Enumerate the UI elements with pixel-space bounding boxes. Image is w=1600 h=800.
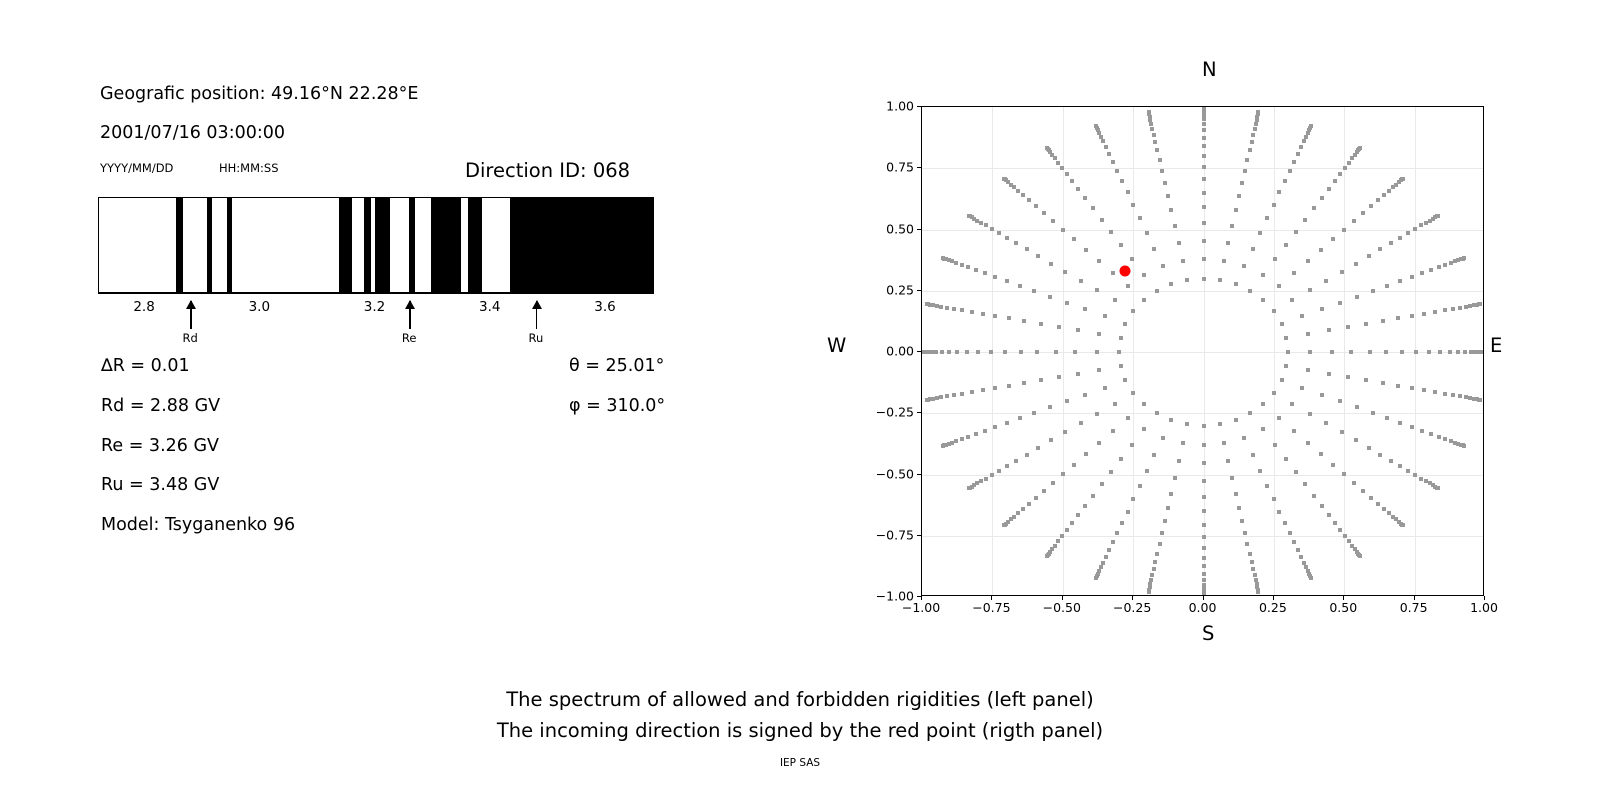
direction-grid-point [1243, 531, 1247, 535]
direction-grid-point [1302, 561, 1306, 565]
direction-grid-point [1014, 241, 1018, 245]
direction-grid-point [1265, 484, 1269, 488]
direction-grid-point [1401, 523, 1405, 527]
direction-grid-point [1065, 172, 1069, 176]
direction-grid-point [1084, 452, 1088, 456]
direction-grid-point [1158, 542, 1162, 546]
time-format-hint: HH:MM:SS [219, 161, 279, 175]
direction-grid-point [1306, 441, 1310, 445]
direction-grid-point [1181, 441, 1185, 445]
direction-grid-point [1100, 482, 1104, 486]
forbidden-band [207, 198, 212, 292]
direction-grid-point [1245, 542, 1249, 546]
direction-grid-point [1251, 453, 1255, 457]
direction-grid-point [1065, 301, 1069, 305]
direction-grid-point [1385, 416, 1389, 420]
direction-grid-point [1331, 463, 1335, 467]
direction-grid-point [1413, 473, 1417, 477]
direction-grid-point [976, 350, 980, 354]
direction-grid-point [1039, 322, 1043, 326]
grid-line-horizontal [922, 413, 1483, 414]
direction-grid-point [1242, 264, 1246, 268]
direction-grid-point [1343, 534, 1347, 538]
direction-grid-point [1202, 277, 1206, 281]
direction-grid-point [960, 437, 964, 441]
direction-grid-point [1109, 470, 1113, 474]
direction-grid-point [1101, 139, 1105, 143]
direction-grid-point [1389, 459, 1393, 463]
direction-grid-point [1401, 177, 1405, 181]
direction-grid-point [1369, 496, 1373, 500]
direction-grid-point [1131, 391, 1135, 395]
marker-label: Ru [528, 331, 543, 345]
direction-grid-point [1364, 378, 1368, 382]
direction-grid-point [1130, 443, 1134, 447]
direction-grid-point [940, 350, 944, 354]
direction-grid-point [1303, 218, 1307, 222]
direction-grid-point [1115, 531, 1119, 535]
direction-grid-point [1343, 166, 1347, 170]
direction-grid-point [1051, 219, 1055, 223]
spectrum-tick-label: 3.0 [249, 299, 270, 315]
grid-line-horizontal [922, 475, 1483, 476]
direction-grid-point [1352, 481, 1356, 485]
direction-grid-point [1302, 139, 1306, 143]
direction-grid-point [1384, 350, 1388, 354]
direction-grid-point [1438, 350, 1442, 354]
direction-grid-point [1312, 494, 1316, 498]
direction-grid-point [1202, 122, 1206, 126]
direction-grid-point [954, 439, 958, 443]
direction-grid-point [1371, 411, 1375, 415]
direction-grid-point [1202, 165, 1206, 169]
direction-grid-point [1448, 350, 1452, 354]
direction-grid-point [1248, 289, 1252, 293]
direction-grid-point [967, 486, 971, 490]
direction-grid-point [1320, 196, 1324, 200]
grid-line-vertical [1274, 107, 1275, 595]
direction-grid-point [1306, 332, 1310, 336]
direction-grid-point [1117, 350, 1121, 354]
direction-grid-point [1396, 316, 1400, 320]
direction-grid-point [1299, 555, 1303, 559]
direction-grid-point [1003, 350, 1007, 354]
direction-grid-point [1202, 205, 1206, 209]
direction-grid-point [1261, 273, 1265, 277]
direction-grid-point [1152, 453, 1156, 457]
direction-grid-point [1145, 231, 1149, 235]
stat-ru: Ru = 3.48 GV [101, 475, 219, 495]
y-axis-tick-mark [917, 167, 921, 168]
x-axis-tick-label: 0.00 [1189, 600, 1217, 615]
direction-grid-point [1226, 241, 1230, 245]
direction-grid-point [1327, 372, 1331, 376]
direction-grid-point [1094, 576, 1098, 580]
direction-grid-point [1389, 241, 1393, 245]
direction-grid-point [1202, 443, 1206, 447]
forbidden-band [468, 198, 482, 292]
direction-grid-point [1250, 560, 1254, 564]
direction-grid-point [1202, 564, 1206, 568]
direction-grid-point [1226, 459, 1230, 463]
direction-grid-point [1119, 457, 1123, 461]
direction-grid-point [1406, 231, 1410, 235]
x-axis-tick-mark [1484, 596, 1485, 600]
direction-grid-point [1072, 463, 1076, 467]
direction-grid-point [1049, 262, 1053, 266]
y-axis-tick-mark [917, 412, 921, 413]
direction-grid-point [960, 308, 964, 312]
direction-grid-point [1005, 236, 1009, 240]
direction-grid-point [1308, 412, 1312, 416]
direction-grid-point [1410, 314, 1414, 318]
direction-grid-point [1079, 279, 1083, 283]
direction-grid-point [1462, 256, 1466, 260]
direction-grid-point [1126, 284, 1130, 288]
spectrum-tick-label: 3.4 [479, 299, 500, 315]
forbidden-band [510, 198, 654, 292]
direction-grid-point [1420, 429, 1424, 433]
direction-grid-point [1084, 248, 1088, 252]
direction-grid-point [1097, 259, 1101, 263]
direction-grid-point [1354, 438, 1358, 442]
direction-grid-point [1277, 190, 1281, 194]
direction-grid-point [1076, 187, 1080, 191]
direction-grid-point [1060, 166, 1064, 170]
direction-grid-point [954, 261, 958, 265]
y-axis-tick-mark [917, 474, 921, 475]
direction-grid-point [1256, 110, 1260, 114]
direction-grid-point [1378, 247, 1382, 251]
direction-grid-point [1126, 416, 1130, 420]
direction-grid-point [1138, 484, 1142, 488]
direction-grid-point [1410, 425, 1414, 429]
direction-grid-point [1261, 402, 1265, 406]
direction-grid-point [1070, 179, 1074, 183]
direction-grid-point [1240, 519, 1244, 523]
direction-grid-point [1284, 457, 1288, 461]
direction-id-label: Direction ID: 068 [465, 159, 630, 182]
direction-grid-point [1131, 309, 1135, 313]
direction-grid-point [1248, 411, 1252, 415]
direction-grid-point [1381, 381, 1385, 385]
direction-grid-point [1027, 502, 1031, 506]
direction-grid-point [1306, 368, 1310, 372]
direction-grid-point [1234, 492, 1238, 496]
direction-grid-point [1113, 402, 1117, 406]
direction-grid-point [1382, 507, 1386, 511]
direction-grid-point [1063, 430, 1067, 434]
stat-model: Model: Tsyganenko 96 [101, 515, 295, 535]
direction-grid-point [1103, 386, 1107, 390]
direction-grid-point [1202, 144, 1206, 148]
direction-grid-point [1324, 421, 1328, 425]
direction-grid-point [1284, 336, 1288, 340]
direction-grid-point [1063, 270, 1067, 274]
direction-grid-point [1002, 523, 1006, 527]
arrow-up-icon [532, 300, 542, 309]
direction-grid-point [1042, 489, 1046, 493]
rigidity-spectrum-bar [98, 197, 654, 293]
direction-grid-point [1076, 328, 1080, 332]
direction-grid-point [1202, 257, 1206, 261]
direction-grid-point [1005, 421, 1009, 425]
direction-grid-point [1142, 402, 1146, 406]
direction-grid-point [1463, 350, 1467, 354]
credit-label: IEP SAS [0, 757, 1600, 769]
direction-grid-point [1104, 555, 1108, 559]
direction-grid-point [1396, 384, 1400, 388]
direction-grid-point [1160, 531, 1164, 535]
direction-grid-point [950, 441, 954, 445]
direction-grid-point [1327, 513, 1331, 517]
direction-grid-point [1443, 308, 1447, 312]
direction-grid-point [1045, 554, 1049, 558]
direction-grid-point [1324, 279, 1328, 283]
direction-grid-point [1005, 279, 1009, 283]
direction-grid-point [1250, 140, 1254, 144]
direction-grid-point [997, 469, 1001, 473]
direction-grid-point [1097, 441, 1101, 445]
direction-grid-point [1202, 154, 1206, 158]
direction-grid-point [1230, 476, 1234, 480]
x-axis-tick-mark [1273, 596, 1274, 600]
direction-grid-point [1083, 307, 1087, 311]
direction-grid-point [1436, 214, 1440, 218]
direction-grid-point [1202, 191, 1206, 195]
direction-grid-point [1280, 378, 1284, 382]
direction-grid-point [1338, 399, 1342, 403]
direction-grid-point [1065, 528, 1069, 532]
direction-grid-point [1319, 452, 1323, 456]
forbidden-band [176, 198, 182, 292]
direction-grid-point [1034, 496, 1038, 500]
direction-grid-point [1352, 219, 1356, 223]
direction-grid-point [1025, 453, 1029, 457]
spectrum-tick-label: 3.6 [594, 299, 615, 315]
direction-grid-point [1330, 350, 1334, 354]
direction-grid-point [1094, 124, 1098, 128]
direction-grid-point [1163, 181, 1167, 185]
direction-grid-point [939, 395, 943, 399]
direction-grid-point [1299, 145, 1303, 149]
direction-grid-point [1057, 375, 1061, 379]
direction-grid-point [1286, 350, 1290, 354]
direction-grid-point [1202, 572, 1206, 576]
direction-grid-point [1309, 576, 1313, 580]
direction-grid-point [1308, 350, 1312, 354]
direction-grid-point [1119, 243, 1123, 247]
direction-grid-point [966, 435, 970, 439]
direction-grid-point [1032, 411, 1036, 415]
direction-grid-point [1076, 513, 1080, 517]
direction-grid-point [1436, 486, 1440, 490]
stat-re: Re = 3.26 GV [101, 436, 219, 456]
direction-grid-point [1303, 482, 1307, 486]
direction-grid-point [1429, 268, 1433, 272]
direction-grid-point [1169, 282, 1173, 286]
direction-grid-point [1251, 247, 1255, 251]
direction-grid-point [1173, 476, 1177, 480]
y-axis-tick-mark [917, 106, 921, 107]
direction-grid-point [1166, 194, 1170, 198]
direction-grid-point [1202, 556, 1206, 560]
direction-grid-point [1150, 127, 1154, 131]
direction-grid-point [1123, 378, 1127, 382]
direction-grid-point [1021, 507, 1025, 511]
direction-grid-point [952, 307, 956, 311]
direction-grid-point [1202, 117, 1206, 121]
x-axis-tick-mark [1343, 596, 1344, 600]
forbidden-band [409, 198, 415, 292]
direction-grid-point [1202, 523, 1206, 527]
compass-north-label: N [1202, 58, 1217, 81]
x-axis-tick-mark [991, 596, 992, 600]
geographic-position-label: Geografic position: 49.16°N 22.28°E [100, 84, 418, 104]
direction-grid-point [1016, 511, 1020, 515]
direction-grid-point [1371, 289, 1375, 293]
direction-grid-point [1338, 172, 1342, 176]
x-axis-tick-mark [1062, 596, 1063, 600]
direction-grid-point [1292, 429, 1296, 433]
direction-grid-point [1036, 446, 1040, 450]
direction-grid-point [1327, 328, 1331, 332]
direction-grid-point [1245, 158, 1249, 162]
direction-grid-point [1111, 429, 1115, 433]
direction-grid-point [1333, 521, 1337, 525]
direction-grid-point [950, 259, 954, 263]
direction-grid-point [1319, 248, 1323, 252]
direction-grid-point [1131, 203, 1135, 207]
x-axis-tick-label: −0.75 [972, 600, 1010, 615]
direction-grid-point [1327, 187, 1331, 191]
direction-grid-point [1083, 504, 1087, 508]
direction-grid-point [1358, 146, 1362, 150]
direction-grid-point [1160, 169, 1164, 173]
direction-grid-point [1253, 573, 1257, 577]
y-axis-tick-label: 0.25 [886, 282, 914, 297]
direction-grid-point [1277, 510, 1281, 514]
direction-grid-point [1331, 237, 1335, 241]
direction-grid-point [1113, 298, 1117, 302]
direction-grid-point [1060, 534, 1064, 538]
direction-grid-point [1248, 148, 1252, 152]
y-axis-tick-label: −0.50 [876, 466, 914, 481]
direction-grid-point [1258, 231, 1262, 235]
direction-grid-point [1131, 497, 1135, 501]
direction-grid-point [1277, 284, 1281, 288]
incoming-direction-point [1119, 265, 1130, 276]
direction-grid-point [1109, 230, 1113, 234]
direction-grid-point [1177, 241, 1181, 245]
direction-grid-point [1376, 198, 1380, 202]
x-axis-tick-label: 0.25 [1259, 600, 1287, 615]
direction-grid-point [1202, 535, 1206, 539]
direction-grid-point [1056, 161, 1060, 165]
direction-grid-point [1346, 325, 1350, 329]
direction-grid-point [1202, 479, 1206, 483]
direction-grid-point [1288, 531, 1292, 535]
direction-grid-point [1202, 495, 1206, 499]
direction-grid-point [1338, 528, 1342, 532]
datetime-label: 2001/07/16 03:00:00 [100, 123, 285, 143]
direction-grid-point [1427, 350, 1431, 354]
direction-grid-point [1355, 295, 1359, 299]
direction-grid-point [1320, 307, 1324, 311]
direction-grid-point [1021, 193, 1025, 197]
direction-grid-point [1150, 573, 1154, 577]
direction-grid-point [1248, 552, 1252, 556]
y-axis-tick-label: −0.75 [876, 527, 914, 542]
marker-label: Rd [183, 331, 198, 345]
direction-grid-point [1097, 368, 1101, 372]
direction-grid-point [1422, 388, 1426, 392]
direction-grid-point [1153, 560, 1157, 564]
forbidden-band [339, 198, 352, 292]
direction-grid-point [1202, 578, 1206, 582]
direction-grid-point [1300, 386, 1304, 390]
direction-grid-point [1119, 364, 1123, 368]
direction-grid-point [1443, 437, 1447, 441]
direction-grid-point [989, 350, 993, 354]
direction-grid-point [1100, 218, 1104, 222]
direction-grid-point [1091, 494, 1095, 498]
direction-grid-point [930, 350, 934, 354]
direction-grid-point [1349, 350, 1353, 354]
direction-grid-point [1290, 298, 1294, 302]
compass-east-label: E [1490, 334, 1502, 357]
direction-grid-point [1288, 169, 1292, 173]
direction-grid-point [1292, 271, 1296, 275]
direction-grid-point [970, 310, 974, 314]
direction-grid-point [1230, 224, 1234, 228]
direction-grid-point [990, 227, 994, 231]
direction-grid-point [1185, 422, 1189, 426]
direction-grid-point [1256, 590, 1260, 594]
direction-grid-point [1340, 270, 1344, 274]
direction-grid-point [952, 393, 956, 397]
direction-grid-point [1147, 590, 1151, 594]
direction-grid-point [1290, 402, 1294, 406]
direction-grid-point [983, 271, 987, 275]
direction-grid-point [1202, 106, 1206, 109]
caption-line-2: The incoming direction is signed by the … [0, 719, 1600, 742]
direction-grid-point [925, 398, 929, 402]
direction-grid-point [1145, 469, 1149, 473]
direction-grid-point [974, 432, 978, 436]
x-axis-tick-label: −1.00 [902, 600, 940, 615]
direction-grid-point [1406, 469, 1410, 473]
direction-grid-point [1308, 288, 1312, 292]
direction-grid-point [1284, 243, 1288, 247]
direction-grid-point [1382, 193, 1386, 197]
direction-grid-point [1091, 206, 1095, 210]
direction-grid-point [1273, 257, 1277, 261]
direction-grid-point [1469, 350, 1473, 354]
direction-grid-point [1234, 208, 1238, 212]
direction-grid-point [1437, 435, 1441, 439]
direction-grid-point [1161, 436, 1165, 440]
direction-grid-point [1272, 309, 1276, 313]
direction-grid-point [1147, 110, 1151, 114]
grid-line-horizontal [922, 230, 1483, 231]
direction-grid-point [1277, 416, 1281, 420]
direction-grid-point [1333, 179, 1337, 183]
y-axis-tick-mark [917, 535, 921, 536]
direction-grid-point [1272, 203, 1276, 207]
direction-grid-point [993, 314, 997, 318]
direction-grid-point [1410, 275, 1414, 279]
